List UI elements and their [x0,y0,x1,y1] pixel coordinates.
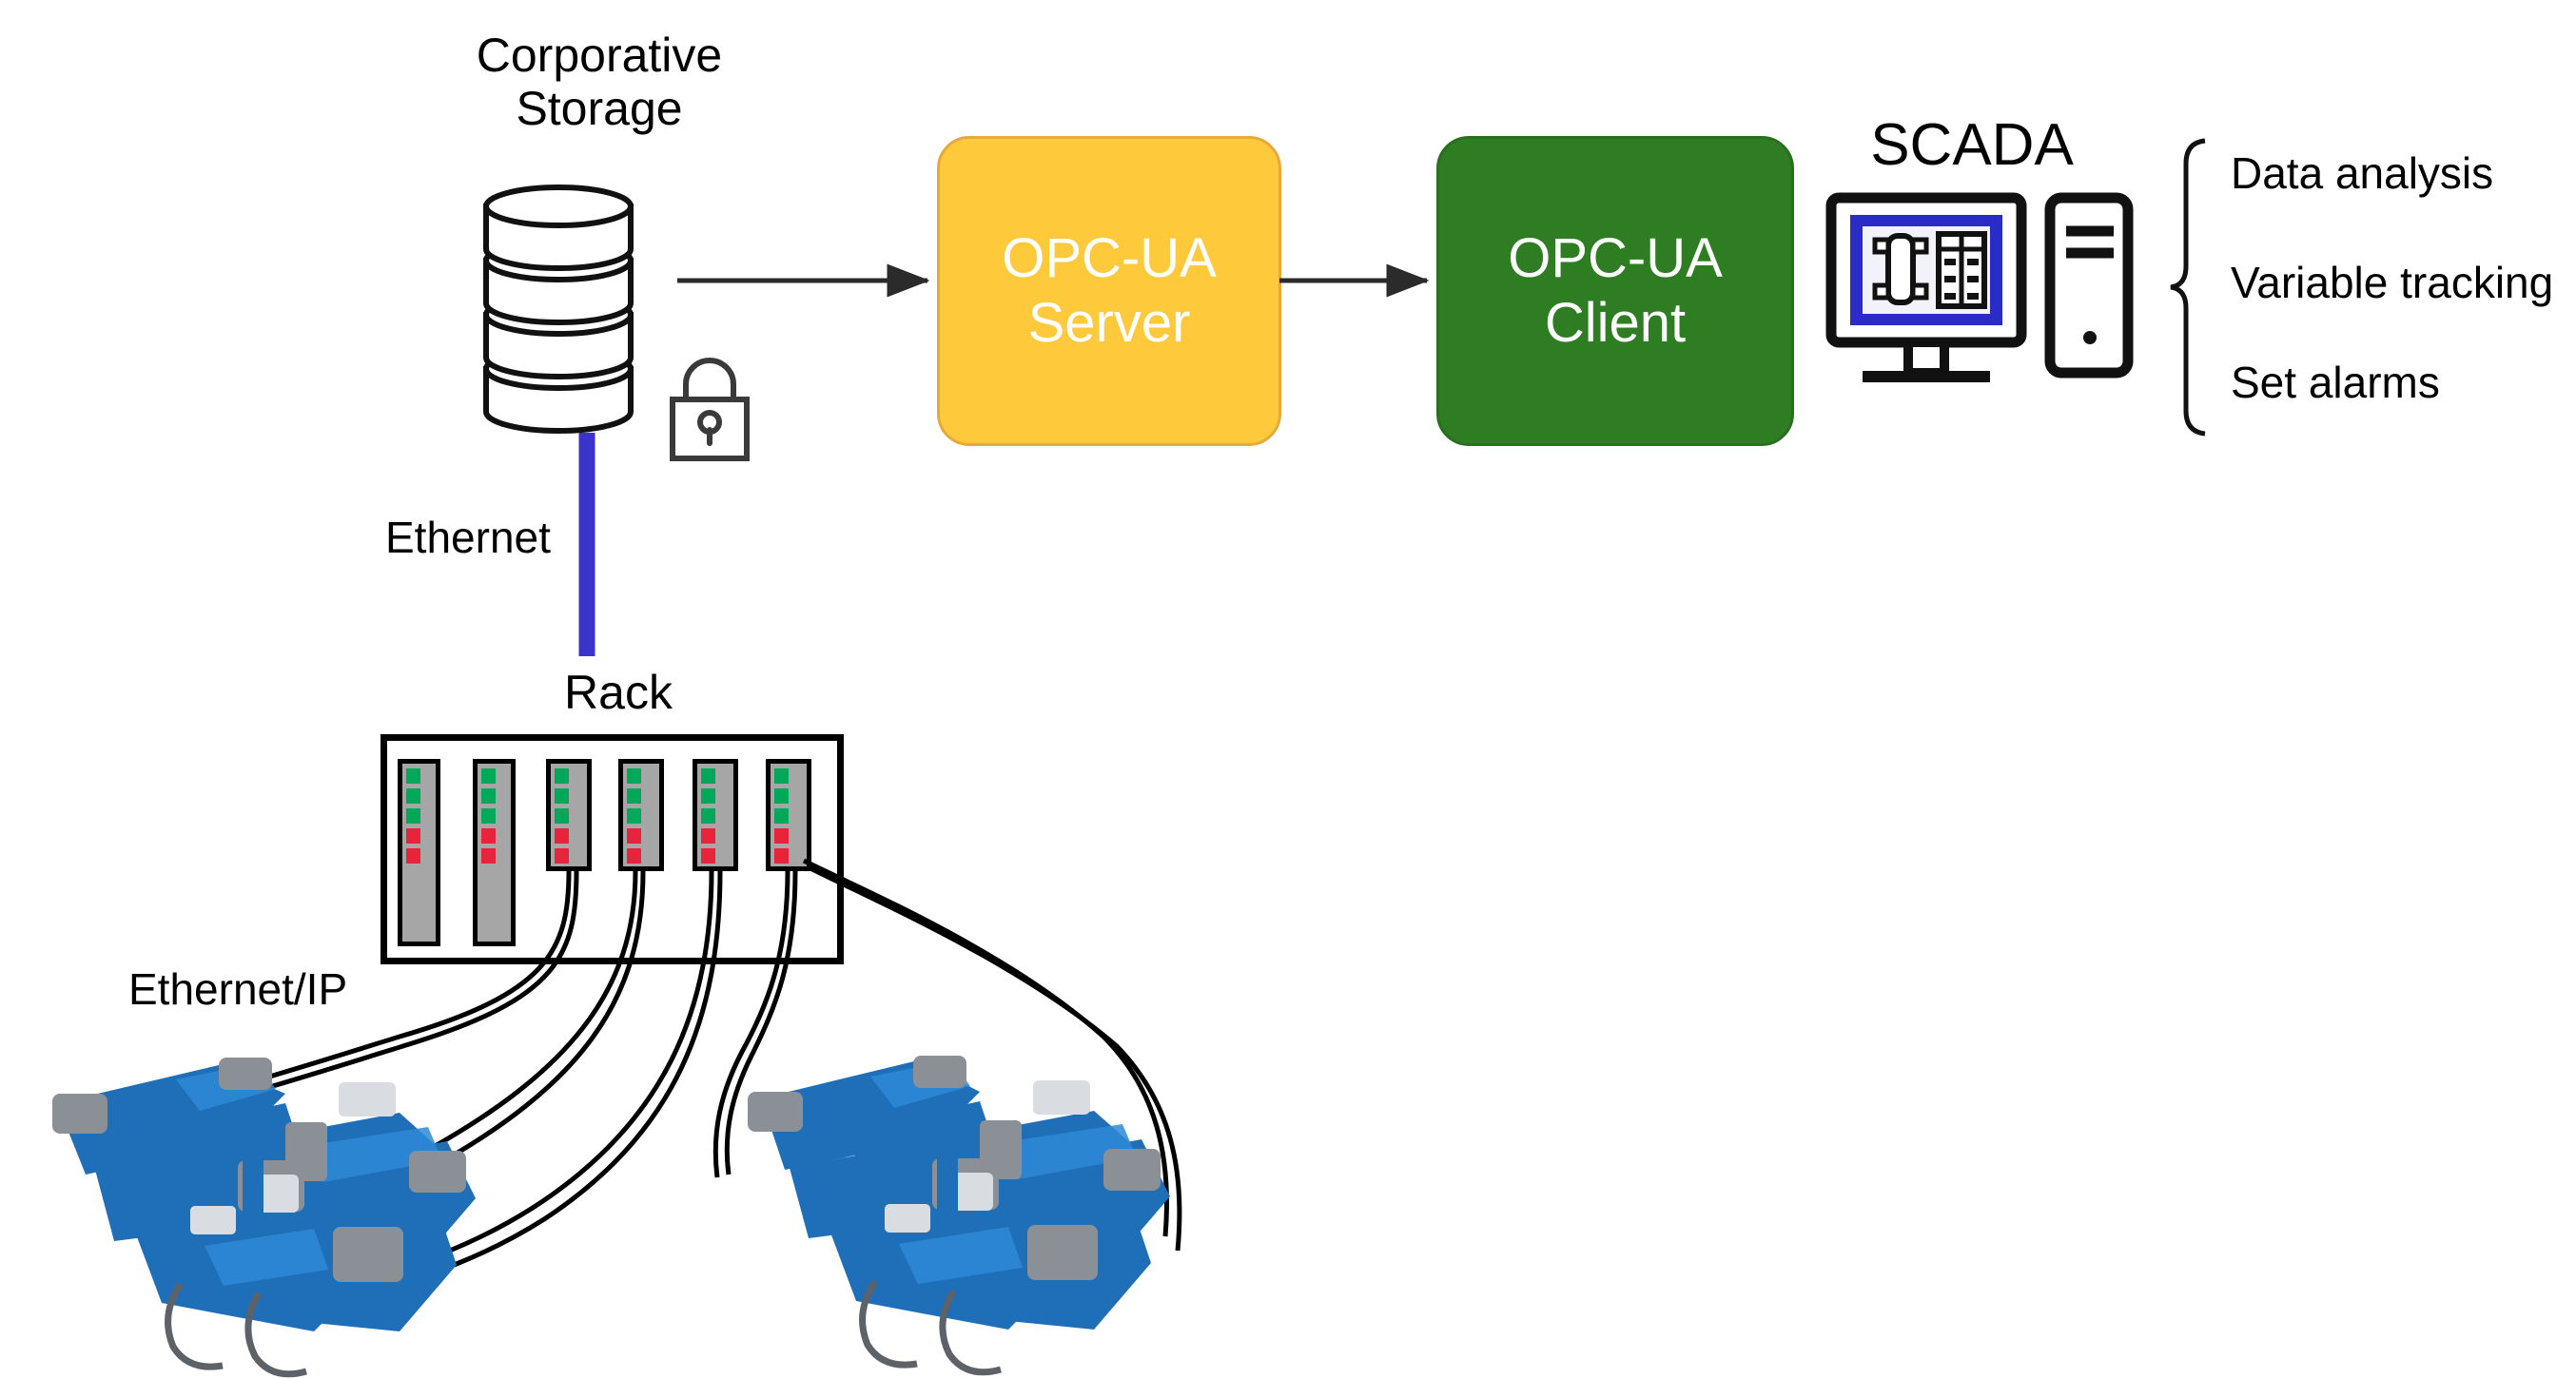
lock-icon [673,360,747,458]
database-cylinder-icon [486,187,631,431]
machine-right [748,1056,1170,1372]
scada-monitor-icon [1831,198,2021,382]
scada-tower-icon [2050,198,2128,373]
diagram-canvas: Corporative Storage Rack Ethernet Ethern… [0,0,2576,1379]
machine-left [52,1058,476,1374]
scada-features-brace [2171,141,2205,434]
diagram-vector-layer [0,0,2576,1379]
